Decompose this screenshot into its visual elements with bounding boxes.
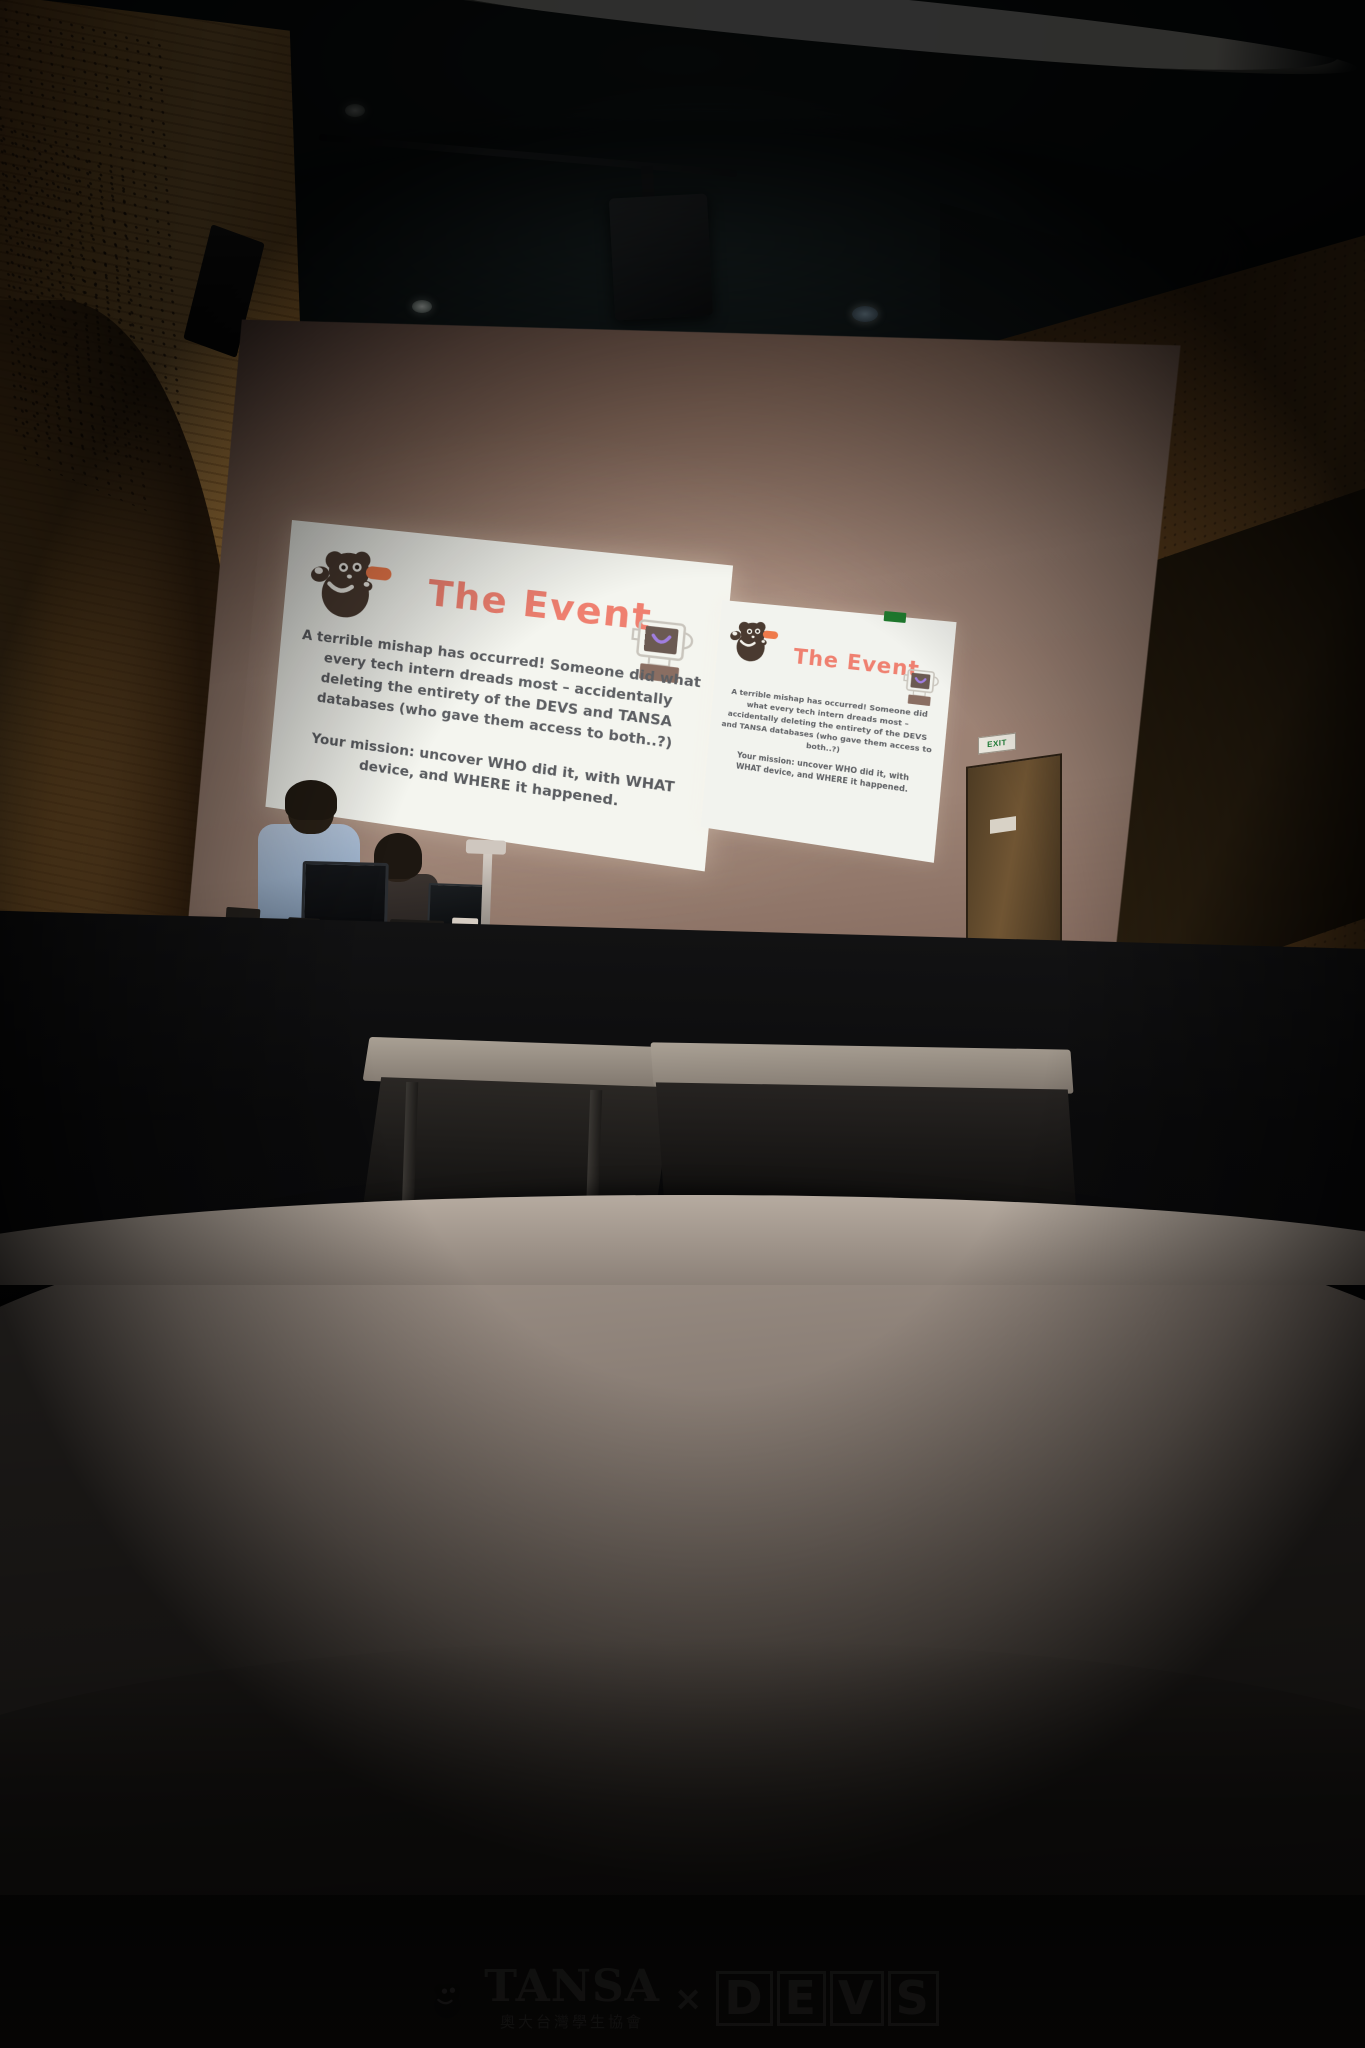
secondary-projected-slide: The Event A terrible mishap has occurred…	[701, 600, 957, 863]
tansa-bear-icon	[426, 1976, 470, 2022]
watermark-devs-logo: D E V S	[716, 1971, 938, 2025]
tansa-bear-icon	[303, 536, 397, 626]
ceiling-sensor-icon	[852, 306, 878, 322]
devs-letter-d: D	[716, 1971, 772, 2025]
presenter-left-hair	[285, 780, 337, 820]
document-camera-head	[466, 839, 506, 854]
student-desk-row-right-front	[656, 1082, 1076, 1209]
watermark-tansa-text: TANSA	[484, 1965, 660, 2009]
downlight-icon	[412, 300, 432, 313]
devs-letter-s: S	[888, 1971, 939, 2025]
slide-title: The Event	[426, 573, 654, 639]
tansa-bear-icon	[725, 613, 782, 667]
devs-letter-e: E	[777, 1971, 826, 2025]
screen-status-badge	[884, 611, 907, 623]
watermark-separator: ×	[674, 1979, 703, 2019]
lecture-theatre-photo: The Event A terrible mishap has occurred…	[0, 0, 1365, 2048]
watermark-tansa-chinese: 奧大台灣學生協會	[500, 2011, 644, 2032]
tansa-devs-watermark: TANSA 奧大台灣學生協會 × D E V S	[0, 1965, 1365, 2032]
lectern-monitor[interactable]	[301, 861, 389, 925]
downlight-icon	[345, 104, 365, 117]
ceiling-projector	[609, 194, 713, 321]
devs-letter-v: V	[830, 1971, 884, 2025]
